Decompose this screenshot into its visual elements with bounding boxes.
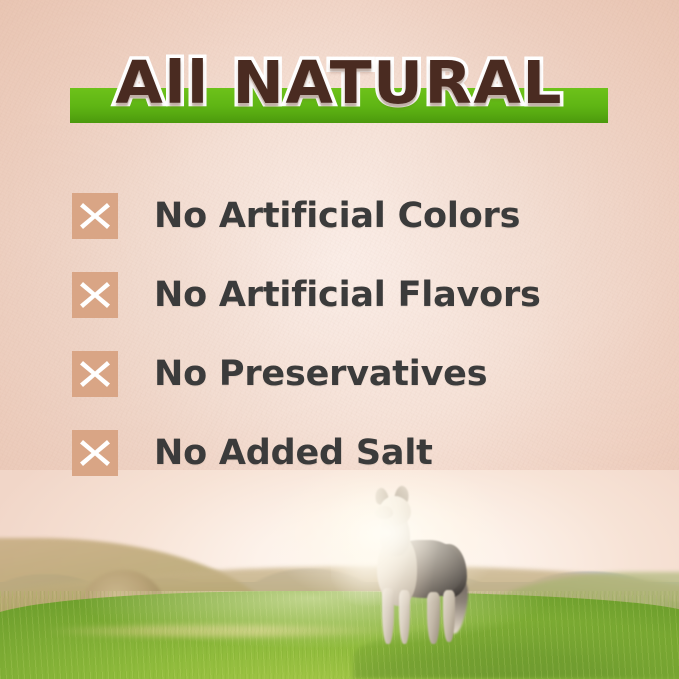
dog-front-leg-left: [382, 588, 394, 644]
claim-label: No Artificial Colors: [154, 197, 520, 235]
headline-container: All NATURAL: [0, 52, 679, 114]
claim-label: No Artificial Flavors: [154, 276, 541, 314]
list-item: No Artificial Flavors: [72, 255, 612, 334]
all-natural-product-poster: All NATURAL No Artificial Colors No Arti…: [0, 0, 679, 679]
x-mark-icon: [72, 351, 118, 397]
list-item: No Preservatives: [72, 334, 612, 413]
x-mark-icon: [72, 430, 118, 476]
claims-list: No Artificial Colors No Artificial Flavo…: [72, 176, 612, 492]
hero-photo-dog-in-meadow: [0, 470, 679, 679]
dog-hind-leg-left: [427, 592, 440, 644]
list-item: No Added Salt: [72, 413, 612, 492]
dog-snout: [375, 506, 393, 519]
list-item: No Artificial Colors: [72, 176, 612, 255]
claim-label: No Preservatives: [154, 355, 487, 393]
page-title: All NATURAL: [116, 52, 564, 114]
dog: [355, 482, 473, 654]
dog-hind-leg-right: [443, 590, 455, 642]
claim-label: No Added Salt: [154, 434, 433, 472]
dog-front-leg-right: [399, 590, 410, 644]
x-mark-icon: [72, 193, 118, 239]
x-mark-icon: [72, 272, 118, 318]
dirt-path: [41, 625, 394, 637]
